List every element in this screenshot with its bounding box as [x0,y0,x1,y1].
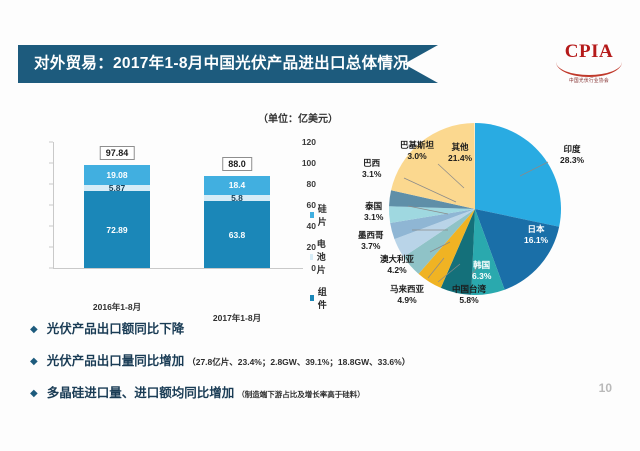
pie-label-name: 墨西哥 [358,230,384,241]
pie-label-name: 巴西 [362,158,381,169]
pie-label-name: 马来西亚 [390,284,424,295]
logo-arc-icon [556,62,622,77]
bullet-item: ◆光伏产品出口量同比增加（27.8亿片、23.4%；2.8GW、39.1%；18… [30,350,490,369]
header-banner: 对外贸易：2017年1-8月中国光伏产品进出口总体情况 [18,45,438,83]
pie-label-韩国: 韩国6.3% [472,260,491,282]
pie-label-percent: 3.0% [400,151,434,162]
pie-label-percent: 3.1% [362,169,381,180]
pie-label-name: 中国台湾 [452,284,486,295]
bar-segment-组件: 72.89 [84,191,150,268]
legend-swatch [310,212,314,218]
pie-label-中国台湾: 中国台湾5.8% [452,284,486,306]
cpia-logo: CPIA 中国光伏行业协会 [552,42,626,84]
legend-swatch [310,295,314,301]
pie-label-percent: 4.9% [390,295,424,306]
bar-segment-组件: 63.8 [204,201,270,268]
pie-label-澳大利亚: 澳大利亚4.2% [380,254,414,276]
pie-label-日本: 日本16.1% [524,224,548,246]
legend-item-硅片: 硅片 [310,202,329,228]
pie-label-name: 泰国 [364,201,383,212]
pie-label-percent: 21.4% [448,153,472,164]
bar-total-label: 97.84 [100,146,135,160]
y-axis-tick-mark [49,268,53,269]
pie-label-percent: 3.1% [364,212,383,223]
bullet-item: ◆多晶硅进口量、进口额均同比增加（制造端下游占比及增长率高于硅料） [30,382,490,401]
legend-item-组件: 组件 [310,285,329,311]
bar-chart-legend: 硅片电池片组件 [310,202,329,320]
y-axis-tick-mark [49,205,53,206]
pie-label-name: 其他 [448,142,472,153]
legend-label: 硅片 [318,202,329,228]
logo-text: CPIA [552,42,626,62]
bullet-main-text: 光伏产品出口额同比下降 [47,318,185,337]
bar-group: 19.085.8772.8997.842016年1-8月 [84,165,150,268]
pie-label-name: 巴基斯坦 [400,140,434,151]
pie-label-percent: 28.3% [560,155,584,166]
bar-group: 18.45.863.888.02017年1-8月 [204,176,270,268]
legend-swatch [310,254,313,260]
pie-label-percent: 4.2% [380,265,414,276]
pie-label-percent: 5.8% [452,295,486,306]
bar-chart-plot: 19.085.8772.8997.842016年1-8月18.45.863.88… [54,142,302,268]
pie-label-巴西: 巴西3.1% [362,158,381,180]
unit-caption: （单位：亿美元） [258,110,338,125]
pie-chart: 印度28.3%日本16.1%韩国6.3%中国台湾5.8%马来西亚4.9%澳大利亚… [352,118,638,304]
bullet-main-text: 多晶硅进口量、进口额均同比增加 [47,382,235,401]
y-axis-tick-mark [49,184,53,185]
pie-label-name: 韩国 [472,260,491,271]
pie-label-马来西亚: 马来西亚4.9% [390,284,424,306]
bar-segment-value: 19.08 [84,170,150,180]
bullet-diamond-icon: ◆ [30,389,38,399]
pie-slice-印度 [475,123,561,227]
y-axis-tick-mark [49,226,53,227]
bullet-main-text: 光伏产品出口量同比增加 [47,350,185,369]
bar-segment-value: 72.89 [84,225,150,235]
pie-label-percent: 6.3% [472,271,491,282]
bullet-sub-text: （27.8亿片、23.4%；2.8GW、39.1%；18.8GW、33.6%） [187,356,410,368]
bullet-item: ◆光伏产品出口额同比下降 [30,318,490,337]
pie-label-name: 澳大利亚 [380,254,414,265]
bar-chart: 020406080100120 19.085.8772.8997.842016年… [16,136,316,292]
y-axis-tick-mark [49,247,53,248]
bar-segment-value: 18.4 [204,180,270,190]
y-axis-tick-mark [49,142,53,143]
pie-label-墨西哥: 墨西哥3.7% [358,230,384,252]
pie-label-泰国: 泰国3.1% [364,201,383,223]
page-title: 对外贸易：2017年1-8月中国光伏产品进出口总体情况 [34,45,409,83]
bullet-diamond-icon: ◆ [30,357,38,367]
pie-label-印度: 印度28.3% [560,144,584,166]
pie-label-name: 印度 [560,144,584,155]
page-number: 10 [599,381,612,395]
pie-label-percent: 3.7% [358,241,384,252]
bar-chart-x-axis [53,268,303,269]
x-axis-label: 2016年1-8月 [93,301,141,313]
legend-label: 组件 [318,285,329,311]
legend-item-电池片: 电池片 [310,237,329,276]
bullet-diamond-icon: ◆ [30,325,38,335]
legend-label: 电池片 [317,237,329,276]
pie-label-巴基斯坦: 巴基斯坦3.0% [400,140,434,162]
slide: 对外贸易：2017年1-8月中国光伏产品进出口总体情况 CPIA 中国光伏行业协… [0,0,640,451]
pie-chart-svg [352,118,638,304]
bar-segment-value: 63.8 [204,230,270,240]
bullet-sub-text: （制造端下游占比及增长率高于硅料） [237,389,365,400]
pie-label-name: 日本 [524,224,548,235]
bullet-list: ◆光伏产品出口额同比下降◆光伏产品出口量同比增加（27.8亿片、23.4%；2.… [30,318,490,414]
y-axis-tick-mark [49,163,53,164]
pie-label-percent: 16.1% [524,235,548,246]
bar-segment-硅片: 19.08 [84,165,150,185]
logo-subtitle: 中国光伏行业协会 [552,78,626,85]
bar-total-label: 88.0 [222,157,252,171]
pie-label-其他: 其他21.4% [448,142,472,164]
